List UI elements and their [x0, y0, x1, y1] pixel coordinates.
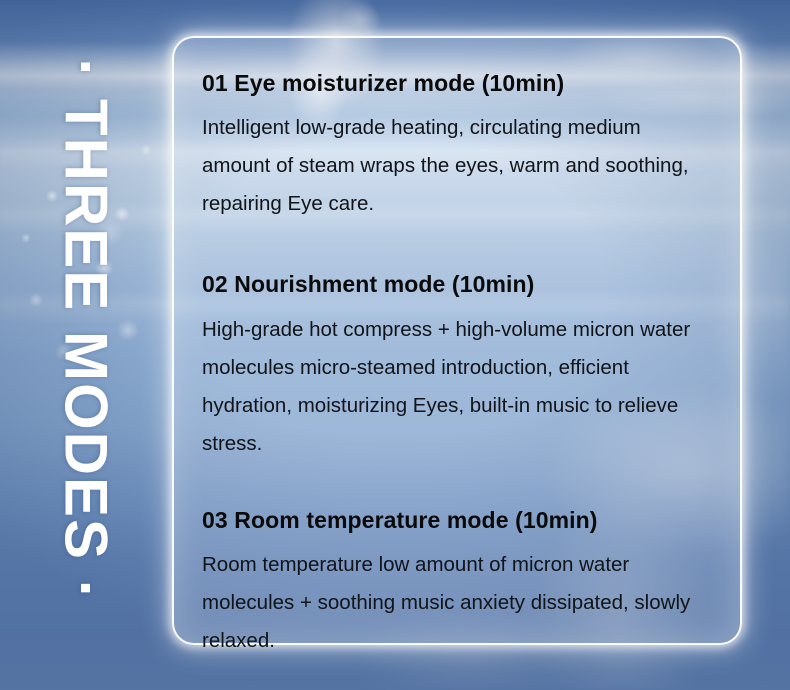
mode-block-01: 01 Eye moisturizer mode (10min) Intellig… [202, 68, 712, 223]
mode-block-03: 03 Room temperature mode (10min) Room te… [202, 467, 712, 660]
promo-slide: · THREE MODES · 01 Eye moisturizer mode … [0, 0, 790, 690]
modes-panel: 01 Eye moisturizer mode (10min) Intellig… [172, 36, 742, 645]
mode-heading-02: 02 Nourishment mode (10min) [202, 271, 712, 297]
mode-heading-01: 01 Eye moisturizer mode (10min) [202, 70, 712, 96]
mode-heading-03: 03 Room temperature mode (10min) [202, 507, 712, 533]
mode-body-02: High-grade hot compress + high-volume mi… [202, 311, 712, 463]
mode-block-02: 02 Nourishment mode (10min) High-grade h… [202, 227, 712, 462]
mode-body-03: Room temperature low amount of micron wa… [202, 546, 712, 660]
mode-body-01: Intelligent low-grade heating, circulati… [202, 109, 712, 223]
